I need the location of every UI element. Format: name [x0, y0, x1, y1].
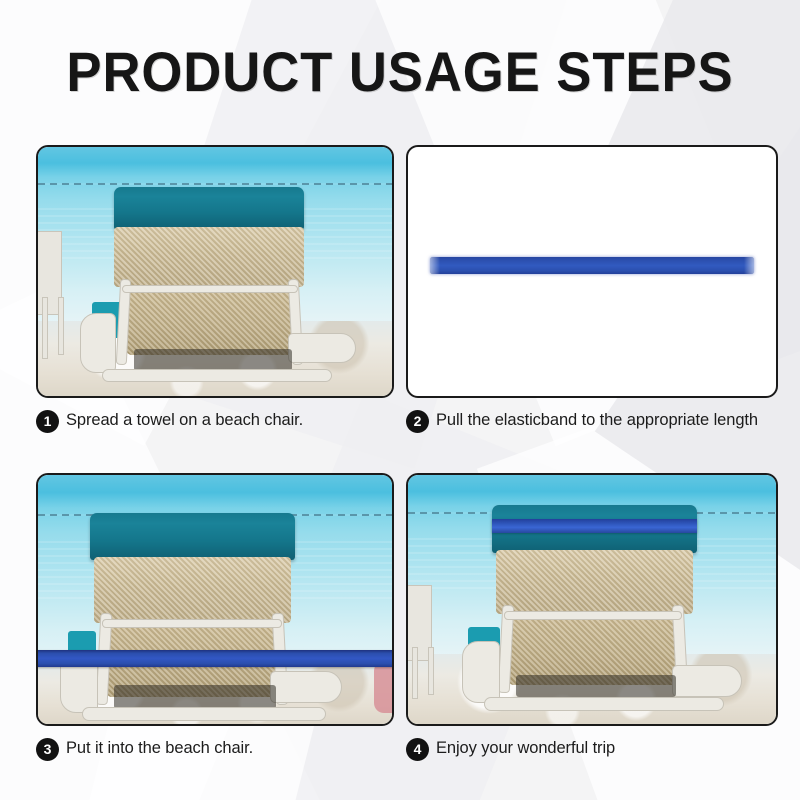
page-title: PRODUCT USAGE STEPS: [24, 42, 776, 102]
step-2-image-panel: [406, 145, 778, 398]
chair-front-rail: [484, 697, 724, 711]
chair-backrest: [114, 227, 304, 287]
chair-armrest-right: [672, 665, 742, 697]
step-1-caption: 1 Spread a towel on a beach chair.: [36, 409, 394, 433]
chair-seat-shadow: [114, 685, 276, 709]
chair-armrest-left: [80, 313, 116, 373]
side-table-leg: [58, 297, 64, 355]
step-4-image-panel: [406, 473, 778, 726]
beach-scene: [38, 475, 392, 724]
step-1: 1 Spread a towel on a beach chair.: [36, 145, 394, 433]
elastic-band: [492, 519, 697, 533]
step-caption-text: Spread a towel on a beach chair.: [66, 409, 303, 431]
elastic-band: [38, 650, 392, 667]
pink-towel-object: [374, 661, 392, 713]
chair-armrest-left: [462, 641, 500, 703]
beach-scene: [408, 475, 776, 724]
chair-armrest-right: [288, 333, 356, 363]
step-2-caption: 2 Pull the elasticband to the appropriat…: [406, 409, 778, 433]
teal-towel: [114, 187, 304, 230]
step-3-caption: 3 Put it into the beach chair.: [36, 737, 394, 761]
chair-frame-top-rail: [504, 611, 682, 620]
step-1-image-panel: [36, 145, 394, 398]
step-number-badge: 4: [406, 738, 429, 761]
step-3-image-panel: [36, 473, 394, 726]
chair-frame-top-rail: [122, 285, 298, 293]
chair-backrest: [496, 550, 693, 614]
step-number-badge: 1: [36, 410, 59, 433]
step-2: 2 Pull the elasticband to the appropriat…: [406, 145, 778, 433]
step-number-badge: 3: [36, 738, 59, 761]
infographic-page: PRODUCT USAGE STEPS: [0, 0, 800, 800]
chair-front-rail: [82, 707, 326, 721]
side-table-leg: [428, 647, 434, 695]
elastic-band: [430, 257, 754, 274]
chair-lower-back: [126, 287, 294, 355]
teal-towel: [90, 513, 295, 560]
step-caption-text: Enjoy your wonderful trip: [436, 737, 615, 759]
side-table-leg: [412, 647, 418, 699]
step-caption-text: Pull the elasticband to the appropriate …: [436, 409, 758, 431]
chair-armrest-right: [270, 671, 342, 703]
chair-seat-shadow: [134, 349, 292, 371]
step-number-badge: 2: [406, 410, 429, 433]
step-caption-text: Put it into the beach chair.: [66, 737, 253, 759]
side-table-leg: [42, 297, 48, 359]
chair-frame-top-rail: [102, 619, 282, 628]
chair-front-rail: [102, 369, 332, 382]
beach-scene: [38, 147, 392, 396]
chair-seat-shadow: [516, 675, 676, 697]
step-4: 4 Enjoy your wonderful trip: [406, 473, 778, 761]
step-3: 3 Put it into the beach chair.: [36, 473, 394, 761]
chair-backrest: [94, 557, 291, 623]
step-4-caption: 4 Enjoy your wonderful trip: [406, 737, 778, 761]
